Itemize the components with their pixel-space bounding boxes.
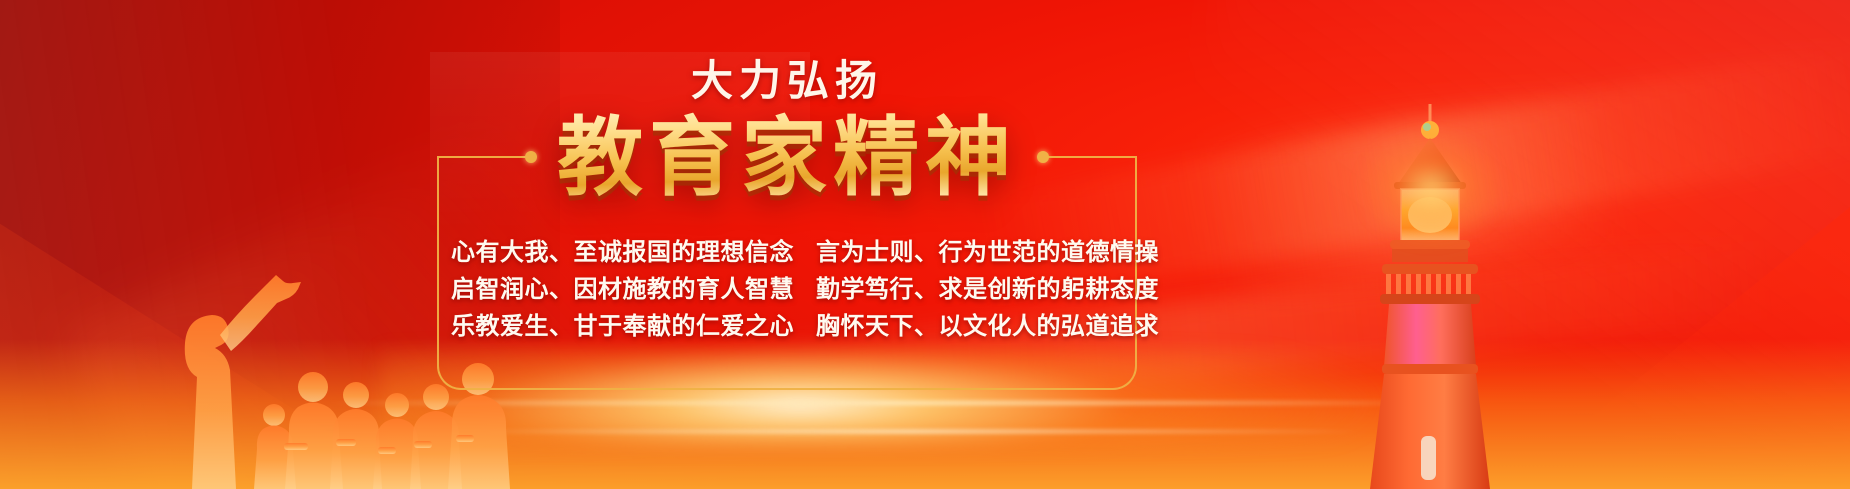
slogan-right-2: 勤学笃行、求是创新的躬耕态度 [816,273,1159,306]
slogan-grid: 心有大我、至诚报国的理想信念 言为士则、行为世范的道德情操 启智润心、因材施教的… [437,236,1137,343]
lighthouse-icon [1330,88,1530,489]
slogan-left-3: 乐教爱生、甘于奉献的仁爱之心 [451,310,794,343]
banner-kicker: 大力弘扬 [437,58,1137,104]
banner-title: 教育家精神 [437,110,1137,206]
bottom-glow-line-2 [460,430,1360,433]
slogan-right-1: 言为士则、行为世范的道德情操 [816,236,1159,269]
slogan-left-2: 启智润心、因材施教的育人智慧 [451,273,794,306]
slogan-right-3: 胸怀天下、以文化人的弘道追求 [816,310,1159,343]
slogan-left-1: 心有大我、至诚报国的理想信念 [451,236,794,269]
education-spirit-banner: 大力弘扬 教育家精神 心有大我、至诚报国的理想信念 言为士则、行为世范的道德情操… [0,0,1850,489]
headline-block: 大力弘扬 教育家精神 [437,40,1137,207]
